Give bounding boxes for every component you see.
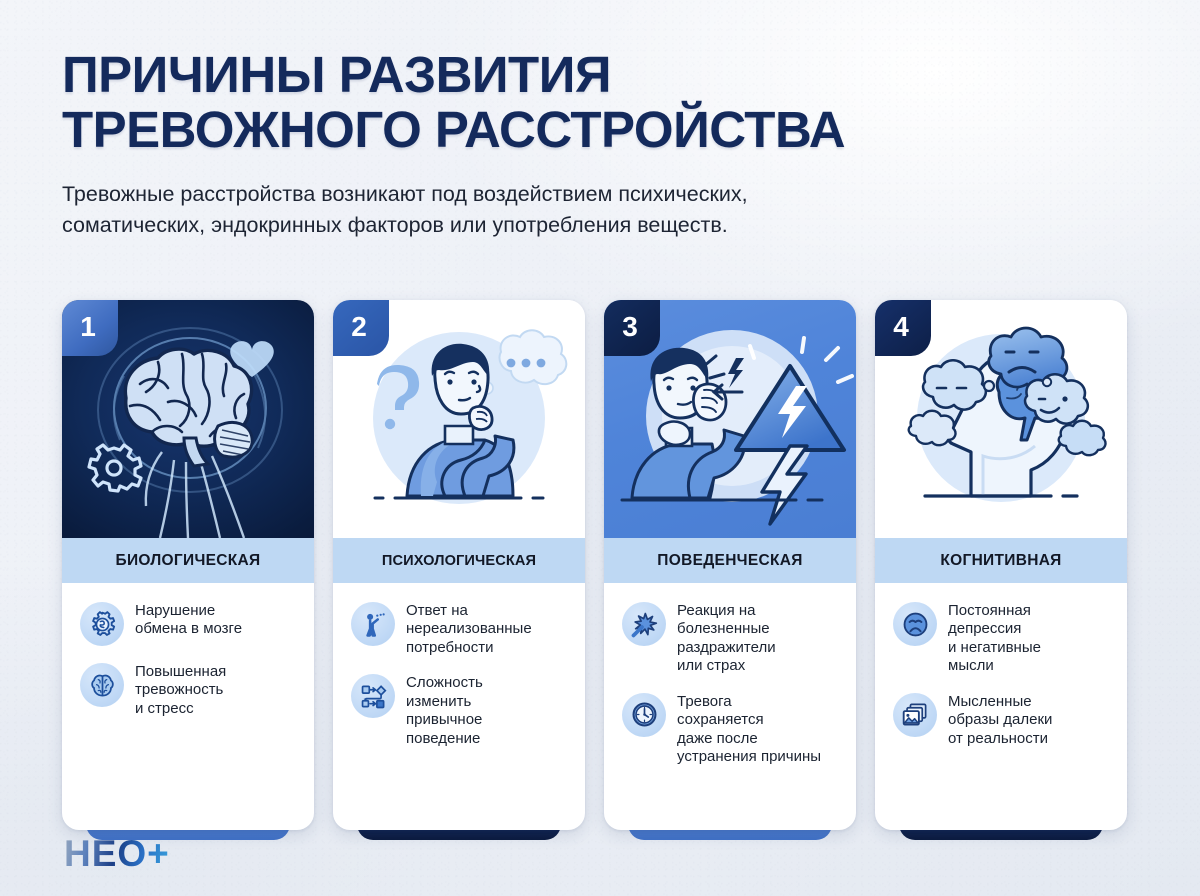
page-title: ПРИЧИНЫ РАЗВИТИЯ ТРЕВОЖНОГО РАССТРОЙСТВА bbox=[62, 48, 1142, 157]
card-body: 2 ПСИХОЛОГИЧЕСКАЯ bbox=[333, 300, 585, 830]
brand-logo: НЕО+ bbox=[64, 835, 170, 872]
bullet-item: Нарушение обмена в мозге bbox=[80, 601, 300, 646]
card-cognitive[interactable]: 4 КОГНИТИВНАЯ bbox=[875, 300, 1127, 830]
card-body: 4 КОГНИТИВНАЯ bbox=[875, 300, 1127, 830]
bullet-line: мысли bbox=[948, 657, 1041, 675]
card-art-area: 1 bbox=[62, 300, 314, 538]
bullet-line: и стресс bbox=[135, 700, 226, 718]
bullet-line: даже после bbox=[677, 730, 821, 748]
person-waving-icon bbox=[351, 602, 395, 646]
bullet-line: Реакция на bbox=[677, 602, 776, 620]
card-body: 3 ПОВЕДЕНЧЕСКАЯ Реакция bbox=[604, 300, 856, 830]
card-label-band: ПСИХОЛОГИЧЕСКАЯ bbox=[333, 538, 585, 583]
title-line-2: ТРЕВОЖНОГО РАССТРОЙСТВА bbox=[62, 103, 1142, 158]
bullet-text: Реакция на болезненные раздражители или … bbox=[677, 601, 776, 676]
bullet-item: Сложность изменить привычное поведение bbox=[351, 673, 571, 748]
card-label-band: КОГНИТИВНАЯ bbox=[875, 538, 1127, 583]
card-label: КОГНИТИВНАЯ bbox=[940, 552, 1061, 570]
gear-brain-icon bbox=[80, 602, 124, 646]
title-line-1: ПРИЧИНЫ РАЗВИТИЯ bbox=[62, 46, 611, 103]
card-art-area: 2 bbox=[333, 300, 585, 538]
bullet-line: обмена в мозге bbox=[135, 620, 242, 638]
bullet-text: Мысленные образы далеки от реальности bbox=[948, 692, 1052, 748]
sad-face-icon bbox=[893, 602, 937, 646]
bullet-line: Повышенная bbox=[135, 663, 226, 681]
card-art-area: 3 bbox=[604, 300, 856, 538]
photos-icon bbox=[893, 693, 937, 737]
thought-cloud-small-left bbox=[909, 411, 956, 445]
card-bullets: Нарушение обмена в мозге bbox=[62, 583, 314, 830]
bullet-line: устранения причины bbox=[677, 748, 821, 766]
infographic-page: ПРИЧИНЫ РАЗВИТИЯ ТРЕВОЖНОГО РАССТРОЙСТВА… bbox=[0, 0, 1200, 896]
flowchart-icon bbox=[351, 674, 395, 718]
bullet-text: Нарушение обмена в мозге bbox=[135, 601, 242, 639]
bullet-line: и негативные bbox=[948, 639, 1041, 657]
bullet-line: изменить bbox=[406, 693, 483, 711]
bullet-line: болезненные bbox=[677, 620, 776, 638]
bullet-item: Постоянная депрессия и негативные мысли bbox=[893, 601, 1113, 676]
card-label: БИОЛОГИЧЕСКАЯ bbox=[116, 552, 261, 570]
cards-row: 1 БИОЛОГИЧЕСКАЯ bbox=[62, 300, 1140, 830]
bullet-text: Сложность изменить привычное поведение bbox=[406, 673, 483, 748]
bullet-line: образы далеки bbox=[948, 711, 1052, 729]
card-art-area: 4 bbox=[875, 300, 1127, 538]
card-label-band: ПОВЕДЕНЧЕСКАЯ bbox=[604, 538, 856, 583]
bullet-line: Нарушение bbox=[135, 602, 242, 620]
bullet-line: Ответ на bbox=[406, 602, 532, 620]
card-bullets: Ответ на нереализованные потребности bbox=[333, 583, 585, 830]
bullet-line: Тревога bbox=[677, 693, 821, 711]
card-bullets: Постоянная депрессия и негативные мысли bbox=[875, 583, 1127, 830]
card-label: ПОВЕДЕНЧЕСКАЯ bbox=[657, 552, 802, 570]
brain-icon bbox=[80, 663, 124, 707]
header: ПРИЧИНЫ РАЗВИТИЯ ТРЕВОЖНОГО РАССТРОЙСТВА… bbox=[62, 48, 1142, 240]
bullet-item: Реакция на болезненные раздражители или … bbox=[622, 601, 842, 676]
bullet-line: нереализованные bbox=[406, 620, 532, 638]
card-biological[interactable]: 1 БИОЛОГИЧЕСКАЯ bbox=[62, 300, 314, 830]
card-number-badge: 3 bbox=[604, 300, 660, 356]
bullet-text: Постоянная депрессия и негативные мысли bbox=[948, 601, 1041, 676]
clock-icon bbox=[622, 693, 666, 737]
bullet-line: от реальности bbox=[948, 730, 1052, 748]
bullet-item: Повышенная тревожность и стресс bbox=[80, 662, 300, 718]
bullet-item: Тревога сохраняется даже после устранени… bbox=[622, 692, 842, 767]
card-bullets: Реакция на болезненные раздражители или … bbox=[604, 583, 856, 830]
bullet-line: Сложность bbox=[406, 674, 483, 692]
bullet-line: депрессия bbox=[948, 620, 1041, 638]
card-number-badge: 4 bbox=[875, 300, 931, 356]
bullet-line: сохраняется bbox=[677, 711, 821, 729]
bullet-line: тревожность bbox=[135, 681, 226, 699]
card-psychological[interactable]: 2 ПСИХОЛОГИЧЕСКАЯ bbox=[333, 300, 585, 830]
bullet-text: Тревога сохраняется даже после устранени… bbox=[677, 692, 821, 767]
bullet-line: или страх bbox=[677, 657, 776, 675]
card-body: 1 БИОЛОГИЧЕСКАЯ bbox=[62, 300, 314, 830]
bullet-line: Постоянная bbox=[948, 602, 1041, 620]
gear-icon bbox=[89, 445, 141, 491]
burst-spark-icon bbox=[622, 602, 666, 646]
card-label: ПСИХОЛОГИЧЕСКАЯ bbox=[382, 553, 536, 569]
bullet-line: поведение bbox=[406, 730, 483, 748]
bullet-item: Мысленные образы далеки от реальности bbox=[893, 692, 1113, 748]
page-subtitle: Тревожные расстройства возникают под воз… bbox=[62, 179, 1062, 240]
card-number-badge: 2 bbox=[333, 300, 389, 356]
bullet-line: потребности bbox=[406, 639, 532, 657]
bullet-text: Ответ на нереализованные потребности bbox=[406, 601, 532, 657]
bullet-line: раздражители bbox=[677, 639, 776, 657]
card-behavioral[interactable]: 3 ПОВЕДЕНЧЕСКАЯ Реакция bbox=[604, 300, 856, 830]
subtitle-line-2: соматических, эндокринных факторов или у… bbox=[62, 210, 1062, 241]
bullet-item: Ответ на нереализованные потребности bbox=[351, 601, 571, 657]
bullet-text: Повышенная тревожность и стресс bbox=[135, 662, 226, 718]
card-number-badge: 1 bbox=[62, 300, 118, 356]
bullet-line: привычное bbox=[406, 711, 483, 729]
subtitle-line-1: Тревожные расстройства возникают под воз… bbox=[62, 179, 1062, 210]
card-label-band: БИОЛОГИЧЕСКАЯ bbox=[62, 538, 314, 583]
bullet-line: Мысленные bbox=[948, 693, 1052, 711]
